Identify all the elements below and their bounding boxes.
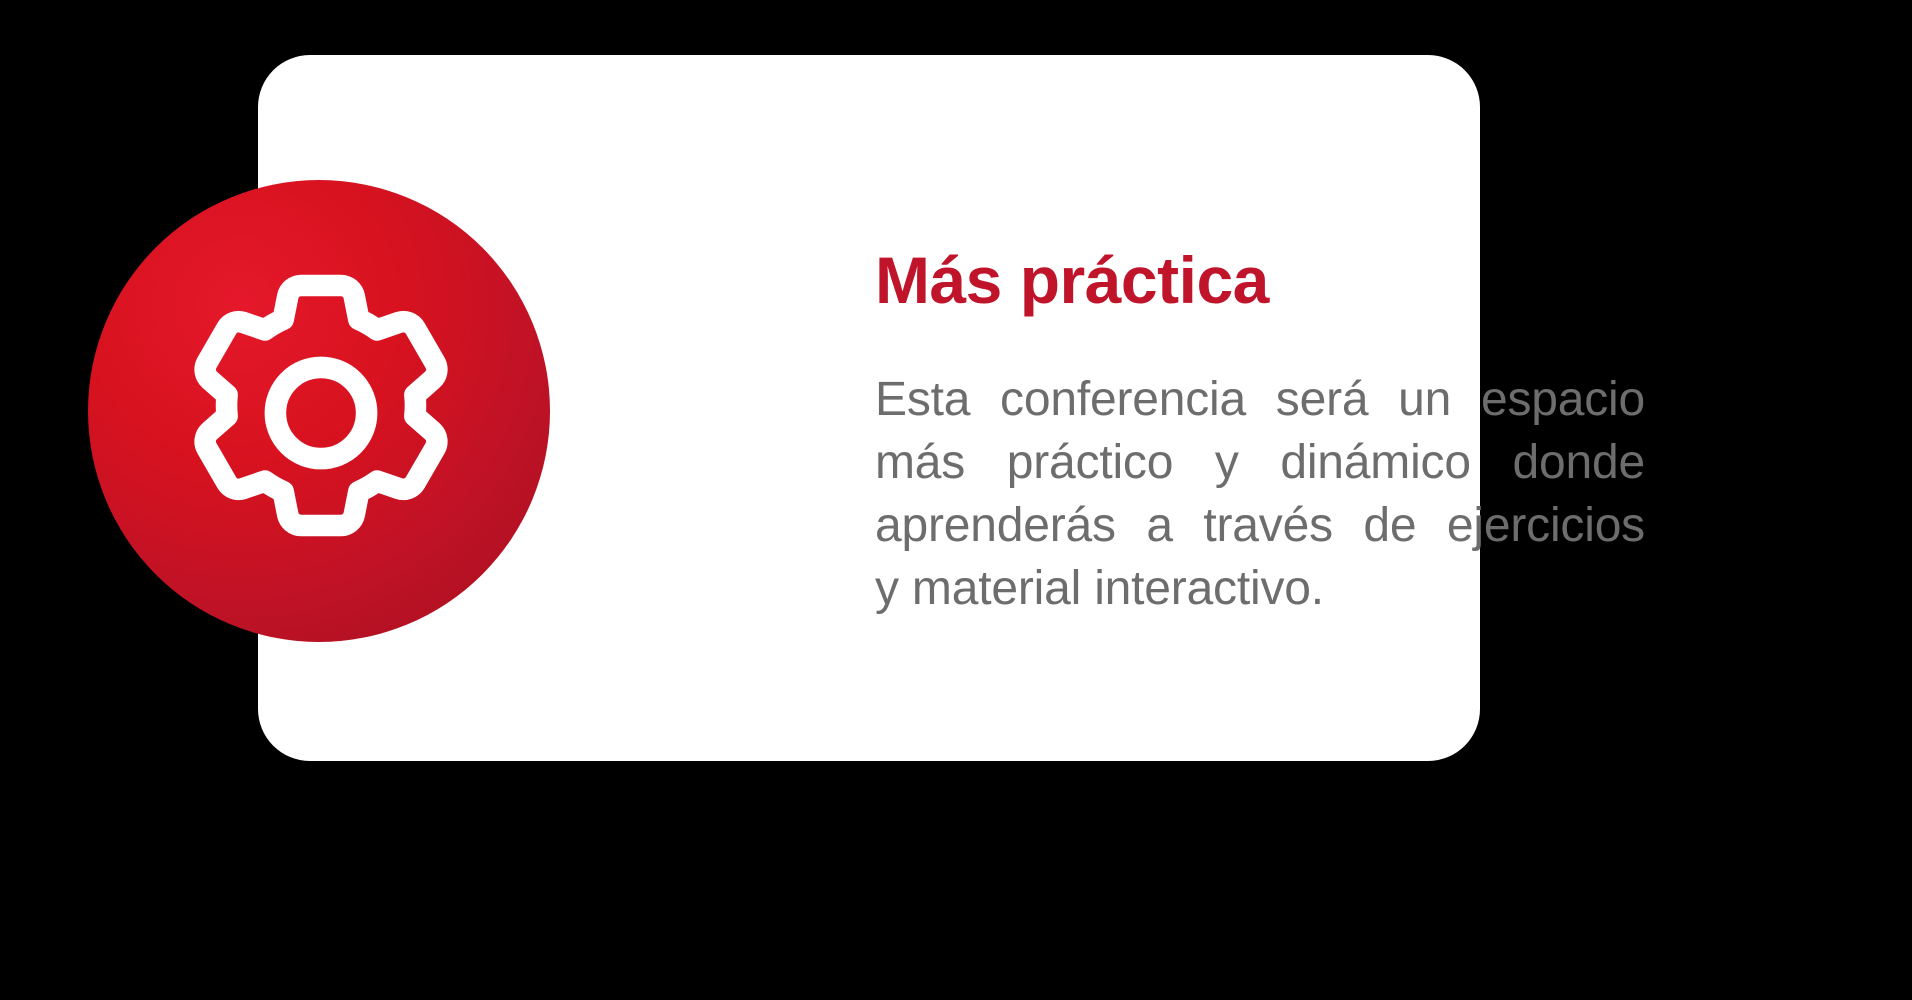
page-background: Más práctica Esta conferencia será un es… <box>0 0 1912 1000</box>
description-line-1: Esta conferencia será un espacio <box>875 368 1645 431</box>
gear-icon <box>171 263 471 563</box>
description-line-3: aprenderás a través de ejercicios <box>875 494 1645 557</box>
card-title: Más práctica <box>875 245 1665 316</box>
description-line-2: más práctico y dinámico donde <box>875 431 1645 494</box>
card-description: Esta conferencia será un espacio más prá… <box>875 368 1645 620</box>
card-content: Más práctica Esta conferencia será un es… <box>875 245 1665 620</box>
icon-badge <box>88 180 550 642</box>
description-line-4: y material interactivo. <box>875 557 1645 620</box>
